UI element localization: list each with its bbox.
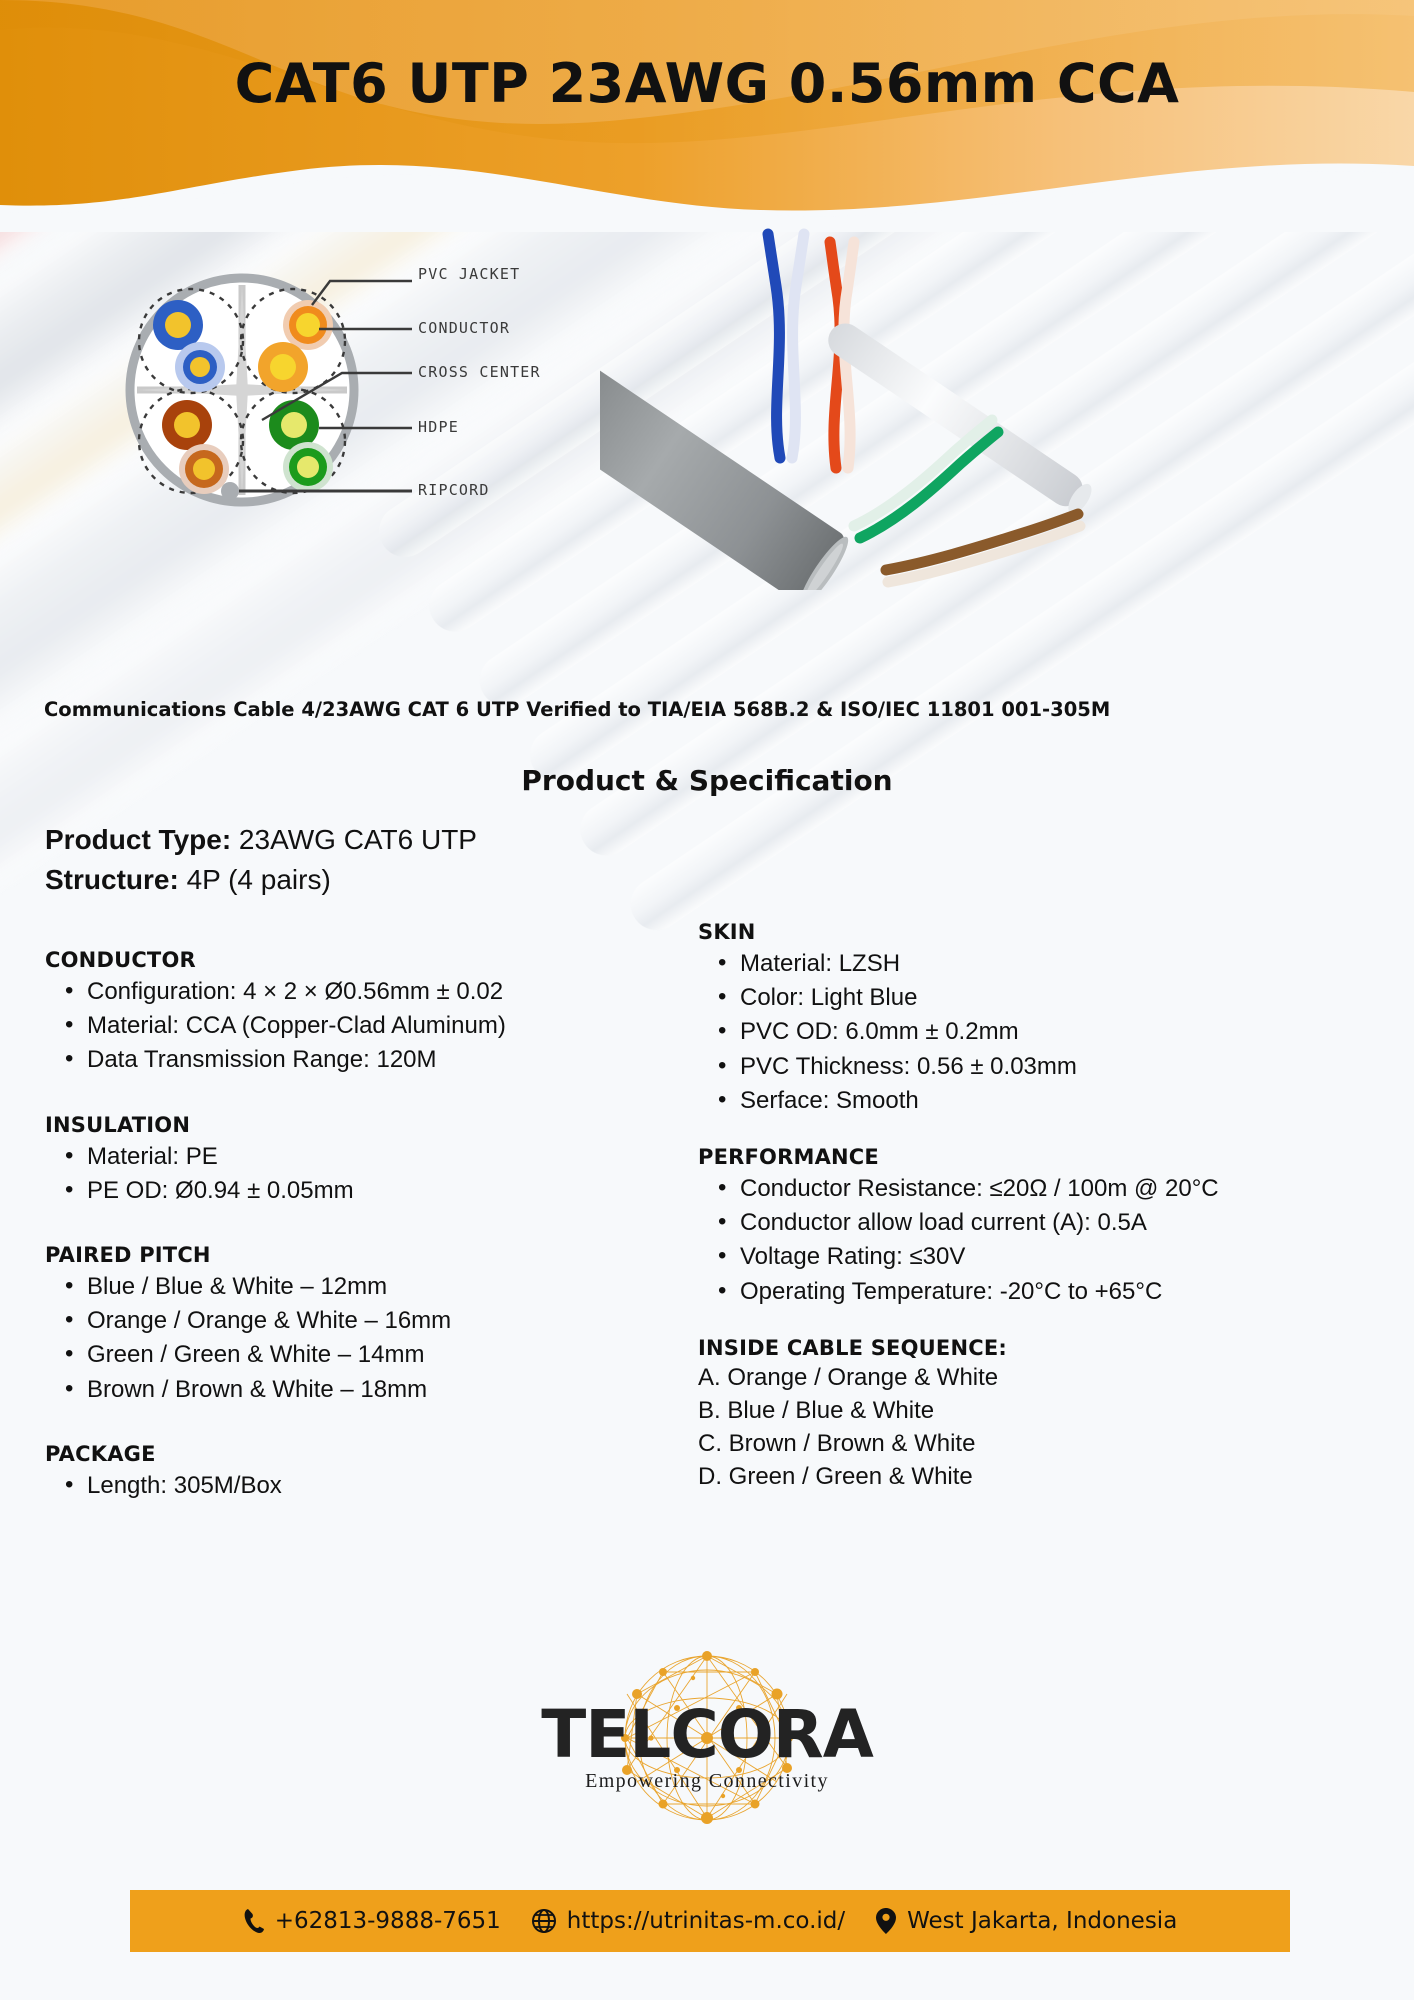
section-list-skin: Material: LZSH Color: Light Blue PVC OD:…: [698, 948, 1358, 1116]
footer-phone[interactable]: +62813-9888-7651: [243, 1908, 501, 1934]
footer-website-text: https://utrinitas-m.co.id/: [567, 1908, 845, 1934]
diagram-label-hdpe: HDPE: [418, 418, 459, 436]
logo-tagline: Empowering Connectivity: [487, 1770, 927, 1793]
product-summary: Product Type: 23AWG CAT6 UTP Structure: …: [45, 820, 477, 900]
section-list-paired-pitch: Blue / Blue & White – 12mm Orange / Oran…: [45, 1271, 665, 1405]
diagram-label-ripcord: RIPCORD: [418, 481, 490, 499]
section-title-paired-pitch: PAIRED PITCH: [45, 1243, 665, 1267]
section-list-conductor: Configuration: 4 × 2 × Ø0.56mm ± 0.02 Ma…: [45, 976, 665, 1076]
product-structure-line: Structure: 4P (4 pairs): [45, 860, 477, 900]
list-item: Material: PE: [45, 1141, 665, 1172]
spec-heading: Product & Specification: [0, 764, 1414, 797]
list-item: Length: 305M/Box: [45, 1470, 665, 1501]
list-item: Green / Green & White – 14mm: [45, 1339, 665, 1370]
list-item: Material: LZSH: [698, 948, 1358, 979]
list-item: PVC Thickness: 0.56 ± 0.03mm: [698, 1051, 1358, 1082]
section-title-skin: SKIN: [698, 920, 1358, 944]
cable-cross-section-diagram: PVC JACKET CONDUCTOR CROSS CENTER HDPE R…: [112, 245, 632, 555]
product-structure-label: Structure:: [45, 864, 179, 895]
section-title-insulation: INSULATION: [45, 1113, 665, 1137]
logo-wordmark: TELCORA: [487, 1696, 927, 1773]
list-item: Color: Light Blue: [698, 982, 1358, 1013]
product-caption: Communications Cable 4/23AWG CAT 6 UTP V…: [44, 698, 1374, 721]
list-item: Orange / Orange & White – 16mm: [45, 1305, 665, 1336]
map-pin-icon: [875, 1907, 897, 1935]
phone-icon: [243, 1908, 265, 1934]
footer-website[interactable]: https://utrinitas-m.co.id/: [531, 1908, 845, 1934]
sequence-item: B. Blue / Blue & White: [698, 1395, 1358, 1426]
product-type-line: Product Type: 23AWG CAT6 UTP: [45, 820, 477, 860]
list-item: Voltage Rating: ≤30V: [698, 1241, 1358, 1272]
sequence-item: A. Orange / Orange & White: [698, 1362, 1358, 1393]
contact-footer: +62813-9888-7651 https://utrinitas-m.co.…: [130, 1890, 1290, 1952]
list-item: Material: CCA (Copper-Clad Aluminum): [45, 1010, 665, 1041]
list-item: Brown / Brown & White – 18mm: [45, 1374, 665, 1405]
footer-location[interactable]: West Jakarta, Indonesia: [875, 1907, 1177, 1935]
section-title-inside-cable-sequence: INSIDE CABLE SEQUENCE:: [698, 1336, 1358, 1360]
list-item: Data Transmission Range: 120M: [45, 1044, 665, 1075]
list-item: PVC OD: 6.0mm ± 0.2mm: [698, 1016, 1358, 1047]
sequence-item: D. Green / Green & White: [698, 1461, 1358, 1492]
section-list-insulation: Material: PE PE OD: Ø0.94 ± 0.05mm: [45, 1141, 665, 1206]
list-item: PE OD: Ø0.94 ± 0.05mm: [45, 1175, 665, 1206]
section-title-conductor: CONDUCTOR: [45, 948, 665, 972]
sequence-item: C. Brown / Brown & White: [698, 1428, 1358, 1459]
list-item: Blue / Blue & White – 12mm: [45, 1271, 665, 1302]
list-item: Conductor Resistance: ≤20Ω / 100m @ 20°C: [698, 1173, 1358, 1204]
section-list-package: Length: 305M/Box: [45, 1470, 665, 1501]
list-item: Conductor allow load current (A): 0.5A: [698, 1207, 1358, 1238]
globe-icon: [531, 1908, 557, 1934]
list-item: Operating Temperature: -20°C to +65°C: [698, 1276, 1358, 1307]
page-title: CAT6 UTP 23AWG 0.56mm CCA: [0, 52, 1414, 115]
cable-product-photo: [600, 190, 1220, 590]
product-structure-value: 4P (4 pairs): [179, 864, 331, 895]
section-list-performance: Conductor Resistance: ≤20Ω / 100m @ 20°C…: [698, 1173, 1358, 1307]
product-type-value: 23AWG CAT6 UTP: [231, 824, 477, 855]
diagram-label-pvc-jacket: PVC JACKET: [418, 265, 520, 283]
diagram-label-cross-center: CROSS CENTER: [418, 363, 541, 381]
cable-photo-graphic: [600, 190, 1220, 590]
section-title-package: PACKAGE: [45, 1442, 665, 1466]
list-item: Configuration: 4 × 2 × Ø0.56mm ± 0.02: [45, 976, 665, 1007]
product-type-label: Product Type:: [45, 824, 231, 855]
footer-phone-text: +62813-9888-7651: [275, 1908, 501, 1934]
spec-column-right: SKIN Material: LZSH Color: Light Blue PV…: [698, 920, 1358, 1492]
spec-column-left: CONDUCTOR Configuration: 4 × 2 × Ø0.56mm…: [45, 948, 665, 1504]
section-title-performance: PERFORMANCE: [698, 1145, 1358, 1169]
diagram-label-conductor: CONDUCTOR: [418, 319, 510, 337]
list-item: Serface: Smooth: [698, 1085, 1358, 1116]
footer-location-text: West Jakarta, Indonesia: [907, 1908, 1177, 1934]
company-logo: TELCORA Empowering Connectivity: [0, 1638, 1414, 1838]
cross-section-graphic: [112, 245, 632, 555]
